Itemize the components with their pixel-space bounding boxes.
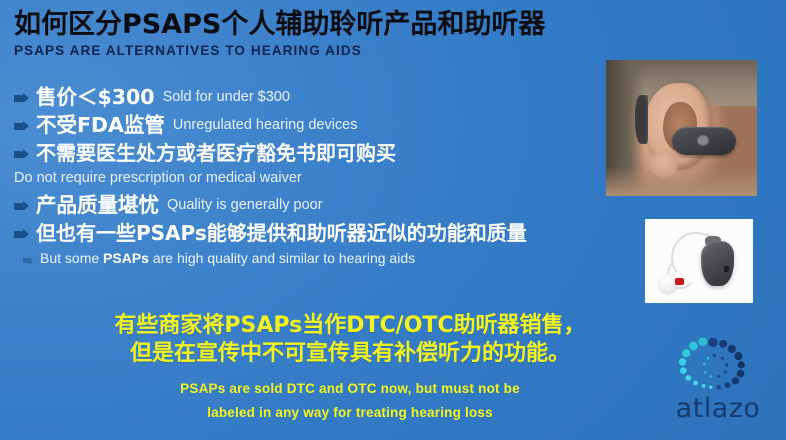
- list-item: 但也有一些PSAPs能够提供和助听器近似的功能和质量: [14, 220, 604, 246]
- callout-en-line1: PSAPs are sold DTC and OTC now, but must…: [0, 377, 700, 401]
- bullet-text-cn: 不受FDA监管: [36, 112, 165, 138]
- callout-block: 有些商家将PSAPs当作DTC/OTC助听器销售， 但是在宣传中不可宣传具有补偿…: [0, 312, 700, 425]
- bullet-text-en: Quality is generally poor: [167, 197, 323, 213]
- device-button-shape: [697, 135, 709, 146]
- bullet-text-cn: 不需要医生处方或者医疗豁免书即可购买: [36, 140, 396, 166]
- arrow-bullet-icon: [14, 229, 29, 240]
- list-item-sub: But some PSAPs are high quality and simi…: [23, 249, 604, 268]
- aid-body-shape: [701, 241, 733, 286]
- atlazo-dots-mark-icon: [676, 338, 750, 396]
- bullet-text-en: Do not require prescription or medical w…: [14, 168, 604, 188]
- bullet-subtext-en: But some PSAPs are high quality and simi…: [40, 249, 415, 268]
- slide-canvas: 如何区分PSAPS个人辅助聆听产品和助听器 PSAPS ARE ALTERNAT…: [0, 0, 786, 440]
- bullet-text-en: Unregulated hearing devices: [173, 117, 358, 133]
- bullet-text-cn: 产品质量堪忧: [36, 192, 159, 218]
- list-item: 不需要医生处方或者医疗豁免书即可购买: [14, 140, 604, 166]
- arrow-bullet-icon: [14, 93, 29, 104]
- arrow-bullet-icon: [14, 149, 29, 160]
- title-block: 如何区分PSAPS个人辅助聆听产品和助听器 PSAPS ARE ALTERNAT…: [14, 9, 614, 59]
- device-earhook-shape: [635, 95, 649, 144]
- atlazo-wordmark: atlazo: [658, 394, 778, 424]
- bullet-text-cn: 但也有一些PSAPs能够提供和助听器近似的功能和质量: [36, 220, 527, 246]
- neck-layer: [606, 166, 757, 196]
- hearing-aid-photo: [645, 219, 753, 303]
- page-title-cn: 如何区分PSAPS个人辅助聆听产品和助听器: [14, 9, 614, 40]
- callout-cn-line1: 有些商家将PSAPs当作DTC/OTC助听器销售，: [0, 312, 700, 340]
- bullet-text-cn: 售价＜$300: [36, 84, 155, 110]
- bullet-list: 售价＜$300 Sold for under $300 不受FDA监管 Unre…: [14, 84, 604, 270]
- list-item: 产品质量堪忧 Quality is generally poor: [14, 192, 604, 218]
- atlazo-logo: atlazo: [658, 346, 778, 432]
- arrow-bullet-small-icon: [23, 256, 34, 264]
- bullet-subtext-pre: But some: [40, 250, 103, 266]
- list-item: 售价＜$300 Sold for under $300: [14, 84, 604, 110]
- callout-en-line2: labeled in any way for treating hearing …: [0, 401, 700, 425]
- bullet-text-en: Sold for under $300: [163, 89, 290, 105]
- ear-lobe-shape: [650, 150, 679, 177]
- callout-cn-line2: 但是在宣传中不可宣传具有补偿听力的功能。: [0, 340, 700, 368]
- page-subtitle-en: PSAPS ARE ALTERNATIVES TO HEARING AIDS: [14, 43, 614, 59]
- aid-button-shape: [724, 266, 729, 272]
- arrow-bullet-icon: [14, 121, 29, 132]
- bullet-subtext-post: are high quality and similar to hearing …: [149, 250, 415, 266]
- ear-photo: [606, 60, 757, 196]
- bullet-subtext-bold: PSAPs: [103, 250, 149, 266]
- arrow-bullet-icon: [14, 201, 29, 212]
- red-marker-shape: [675, 278, 684, 286]
- list-item: 不受FDA监管 Unregulated hearing devices: [14, 112, 604, 138]
